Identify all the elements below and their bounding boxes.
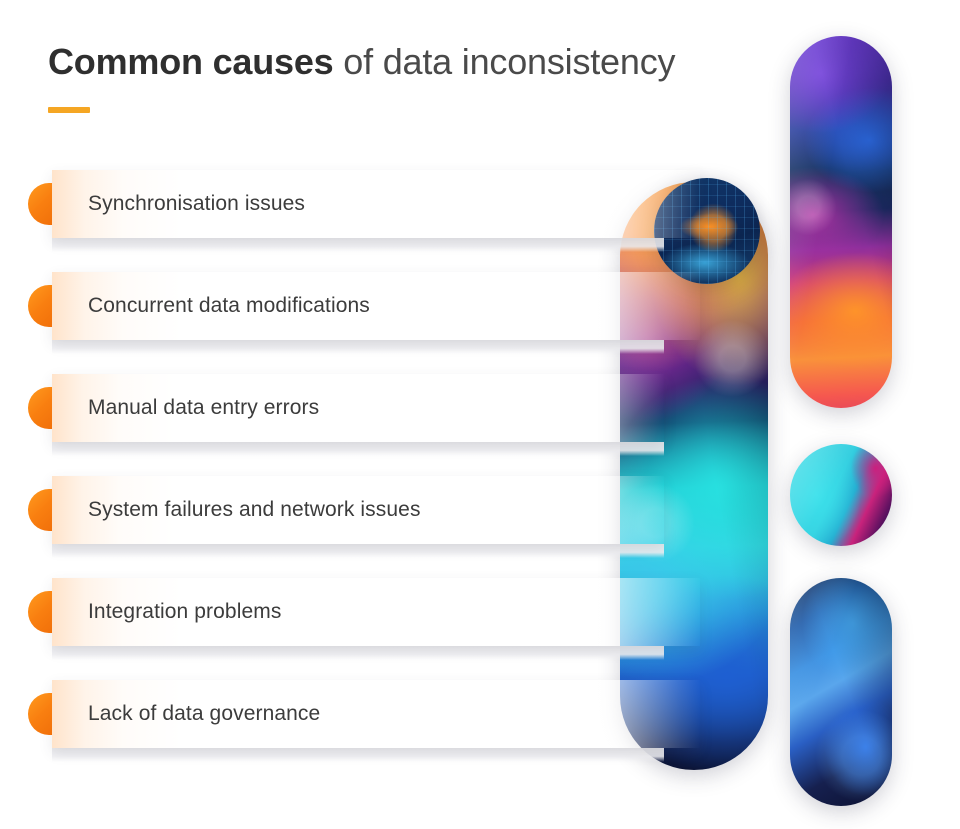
bullet-icon xyxy=(28,489,52,531)
bullet-icon xyxy=(28,183,52,225)
list-item-label: Concurrent data modifications xyxy=(88,272,370,340)
list-item-label: Integration problems xyxy=(88,578,281,646)
bullet-icon xyxy=(28,693,52,735)
row-divider xyxy=(52,544,664,558)
bullet-icon xyxy=(28,591,52,633)
infographic-canvas: Common causes of data inconsistency Sync… xyxy=(0,0,960,829)
list-item-label: Lack of data governance xyxy=(88,680,320,748)
row-divider xyxy=(52,238,664,252)
list-item-label: Manual data entry errors xyxy=(88,374,319,442)
list-item-label: Synchronisation issues xyxy=(88,170,305,238)
bullet-icon xyxy=(28,285,52,327)
list-item-label: System failures and network issues xyxy=(88,476,421,544)
bullet-icon xyxy=(28,387,52,429)
row-divider xyxy=(52,646,664,660)
row-divider xyxy=(52,340,664,354)
row-divider xyxy=(52,748,664,762)
causes-list: Synchronisation issues Concurrent data m… xyxy=(0,0,960,829)
row-divider xyxy=(52,442,664,456)
